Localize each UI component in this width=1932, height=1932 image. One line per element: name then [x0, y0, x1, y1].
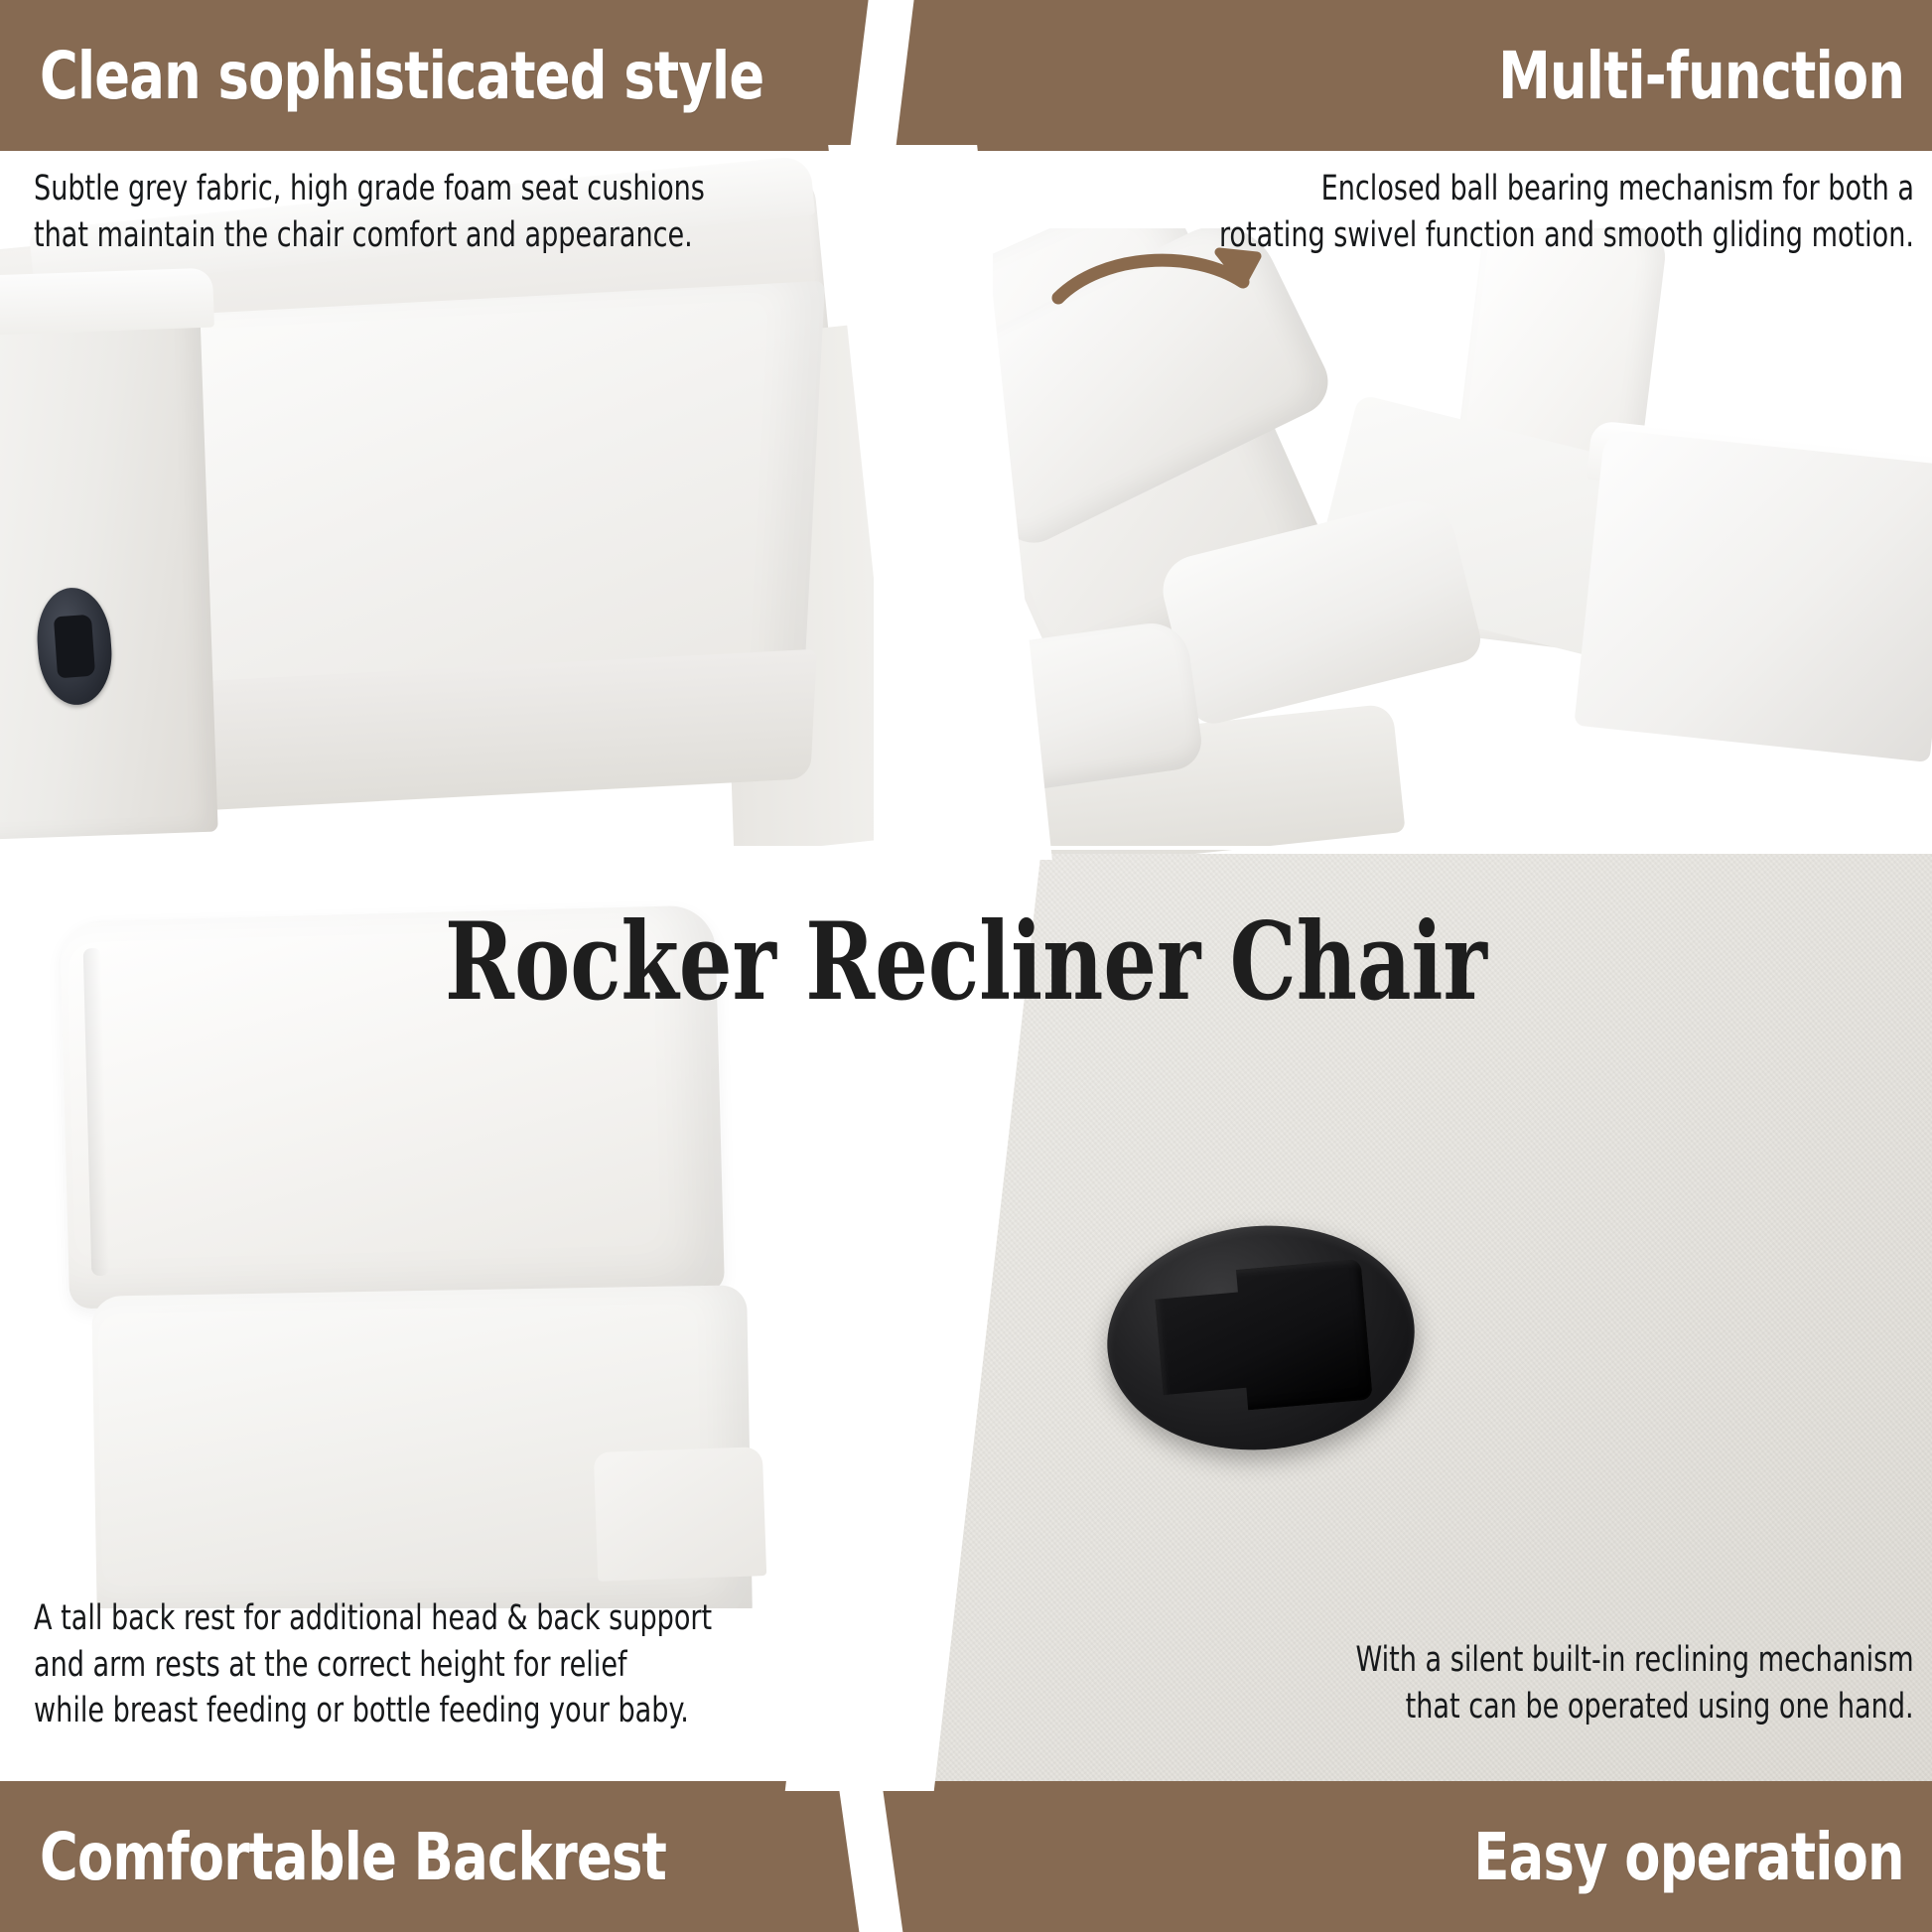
banner-label-multi-function: Multi-function	[1498, 44, 1904, 109]
bottom-banner-diagonal-notch	[837, 1781, 904, 1932]
chair-armrest-top	[0, 268, 214, 337]
top-banner-diagonal-notch	[849, 0, 914, 151]
infographic-board: Clean sophisticated style Multi-function…	[0, 0, 1932, 1932]
panel-text-multi-function: Enclosed ball bearing mechanism for both…	[1219, 166, 1914, 258]
panel-text-easy-operation: With a silent built-in reclining mechani…	[1356, 1637, 1914, 1729]
page-title: Rocker Recliner Chair	[212, 908, 1720, 1016]
panel-text-clean-sophisticated-style: Subtle grey fabric, high grade foam seat…	[34, 166, 705, 258]
mid-section-divider	[0, 846, 1932, 850]
recliner-handle-recess	[1153, 1259, 1373, 1418]
chair-armrest	[0, 276, 218, 840]
panel-text-comfortable-backrest: A tall back rest for additional head & b…	[34, 1595, 712, 1734]
armrest-stub	[594, 1447, 766, 1582]
banner-label-clean-sophisticated-style: Clean sophisticated style	[40, 44, 763, 109]
recliner-pull-handle-icon	[1098, 1213, 1424, 1462]
banner-label-easy-operation: Easy operation	[1474, 1825, 1904, 1890]
bottom-banner: Comfortable Backrest Easy operation	[0, 1781, 1932, 1932]
curved-arrow-right-icon	[1058, 260, 1243, 298]
banner-label-comfortable-backrest: Comfortable Backrest	[40, 1825, 666, 1890]
photo-multi-function	[993, 228, 1932, 864]
top-banner: Clean sophisticated style Multi-function	[0, 0, 1932, 151]
motion-arrows-group	[993, 228, 1932, 864]
